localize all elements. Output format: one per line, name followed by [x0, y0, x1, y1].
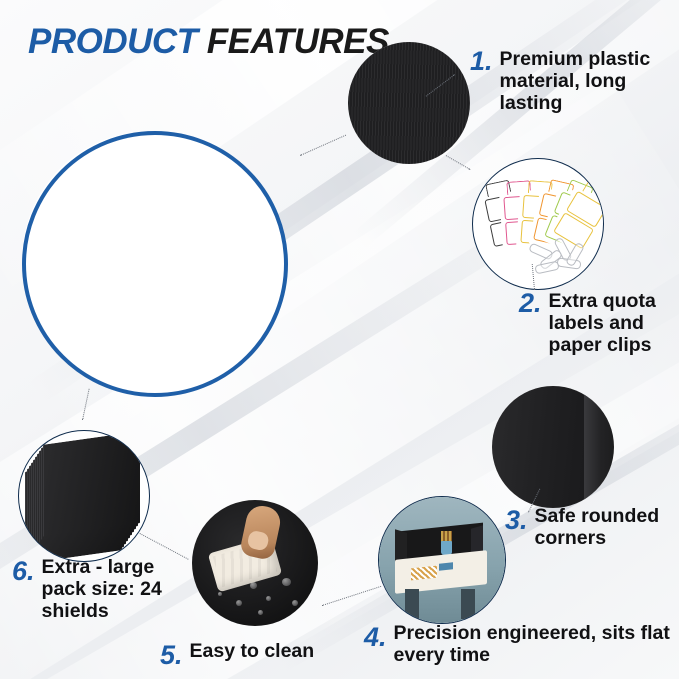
- feature-callout-4: 4. Precision engineered, sits flat every…: [364, 622, 674, 666]
- hero-ring-outline: [22, 131, 288, 397]
- feature-number-3: 3.: [505, 507, 528, 534]
- feature-number-1: 1.: [470, 48, 493, 75]
- feature-number-6: 6.: [12, 558, 35, 585]
- feature-text-2: Extra quota labels and paper clips: [549, 290, 679, 356]
- feature-image-2-labels-clips: [472, 158, 604, 290]
- feature-text-3: Safe rounded corners: [535, 505, 679, 549]
- feature-callout-6: 6. Extra - large pack size: 24 shields: [12, 556, 182, 622]
- feature-image-1-plastic: [348, 42, 470, 164]
- feature-number-2: 2.: [519, 290, 542, 317]
- paper-clips: [529, 243, 587, 277]
- connector-hero: [82, 389, 90, 421]
- connector-4: [322, 586, 381, 606]
- title-word-product: PRODUCT: [28, 22, 198, 61]
- feature-callout-2: 2. Extra quota labels and paper clips: [519, 290, 679, 356]
- feature-text-6: Extra - large pack size: 24 shields: [42, 556, 182, 622]
- connector-hero-2: [300, 135, 346, 156]
- feature-callout-1: 1. Premium plastic material, long lastin…: [470, 48, 670, 114]
- feature-number-4: 4.: [364, 624, 387, 651]
- page-title: PRODUCT FEATURES: [28, 22, 389, 62]
- feature-text-5: Easy to clean: [190, 640, 315, 662]
- feature-image-6-shield-stack: [18, 430, 150, 562]
- feature-text-4: Precision engineered, sits flat every ti…: [394, 622, 674, 666]
- label-sheet-fan: [485, 177, 593, 249]
- feature-callout-3: 3. Safe rounded corners: [505, 505, 679, 549]
- feature-text-1: Premium plastic material, long lasting: [500, 48, 670, 114]
- feature-image-5-wipe-clean: [192, 500, 318, 626]
- feature-image-3-rounded-corner: [492, 386, 614, 508]
- infographic-canvas: PRODUCT FEATURES: [0, 0, 679, 679]
- feature-image-4-desk-setup: [378, 496, 506, 624]
- feature-callout-5: 5. Easy to clean: [160, 640, 360, 669]
- feature-number-5: 5.: [160, 642, 183, 669]
